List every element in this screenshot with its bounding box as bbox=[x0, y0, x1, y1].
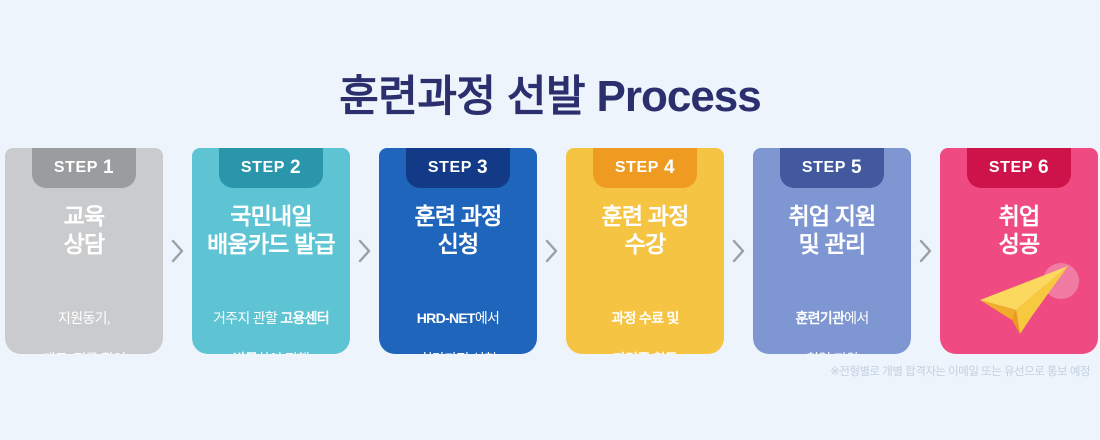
step-title-5: 취업 지원 및 관리 bbox=[788, 202, 875, 258]
step-badge-label-4: STEP bbox=[615, 159, 659, 177]
chevron-right-icon-1 bbox=[163, 148, 192, 354]
step-number-3: 3 bbox=[477, 157, 488, 179]
step-desc-3: HRD-NET에서 희망과정 신청 bbox=[411, 288, 505, 354]
step-desc-2-plain1: 거주지 관할 bbox=[213, 310, 280, 326]
step-desc-4-bold1: 과정 수료 및 bbox=[611, 310, 678, 326]
step-desc-line-5a: 훈련기관에서 bbox=[795, 308, 868, 328]
step-desc-line-3a: HRD-NET에서 bbox=[417, 308, 499, 328]
step-desc-5: 훈련기관에서 취업 지원 bbox=[789, 288, 874, 354]
step-desc-line-3b: 희망과정 신청 bbox=[417, 349, 499, 354]
step-desc-line-5b: 취업 지원 bbox=[795, 349, 868, 354]
step-desc-4: 과정 수료 및 자격증 취득 bbox=[605, 288, 684, 354]
chevron-right-icon-5 bbox=[911, 148, 940, 354]
step-desc-3-plain1: 에서 bbox=[475, 310, 499, 326]
step-badge-1: STEP1 bbox=[32, 148, 136, 188]
step-card-3[interactable]: STEP3 훈련 과정 신청 HRD-NET에서 희망과정 신청 bbox=[379, 148, 537, 354]
step-number-1: 1 bbox=[103, 157, 114, 179]
step-desc-2: 거주지 관할 고용센터 방문하여 진행 bbox=[207, 288, 335, 354]
step-title-2: 국민내일 배움카드 발급 bbox=[207, 202, 335, 258]
step-desc-2-bold2: 방문 bbox=[233, 351, 257, 354]
step-card-1[interactable]: STEP1 교육 상담 지원동기, 태도, 전공 확인 bbox=[5, 148, 163, 354]
step-badge-label-3: STEP bbox=[428, 159, 472, 177]
step-badge-label-2: STEP bbox=[241, 159, 285, 177]
step-badge-5: STEP5 bbox=[780, 148, 884, 188]
step-badge-4: STEP4 bbox=[593, 148, 697, 188]
step-number-2: 2 bbox=[290, 157, 301, 179]
process-steps-row: STEP1 교육 상담 지원동기, 태도, 전공 확인 STEP2 국민내일 배… bbox=[5, 148, 1097, 354]
chevron-right-icon-3 bbox=[537, 148, 566, 354]
step-desc-line-1a: 지원동기, bbox=[43, 308, 126, 328]
step-desc-5-plain1: 에서 bbox=[844, 310, 868, 326]
chevron-right-icon-2 bbox=[350, 148, 379, 354]
step-title-4: 훈련 과정 수강 bbox=[601, 202, 688, 258]
step-desc-2-bold1: 고용센터 bbox=[280, 310, 329, 326]
step-card-5[interactable]: STEP5 취업 지원 및 관리 훈련기관에서 취업 지원 bbox=[753, 148, 911, 354]
step-desc-line-2a: 거주지 관할 고용센터 bbox=[213, 308, 329, 328]
step-desc-line-1b: 태도, 전공 확인 bbox=[43, 349, 126, 354]
step-desc-4-bold2: 자격증 취득 bbox=[613, 351, 677, 354]
step-badge-3: STEP3 bbox=[406, 148, 510, 188]
step-badge-2: STEP2 bbox=[219, 148, 323, 188]
chevron-right-icon-4 bbox=[724, 148, 753, 354]
step-badge-6: STEP6 bbox=[967, 148, 1071, 188]
step-number-4: 4 bbox=[664, 157, 675, 179]
step-number-5: 5 bbox=[851, 157, 862, 179]
step-desc-line-4a: 과정 수료 및 bbox=[611, 308, 678, 328]
paper-plane-icon bbox=[976, 260, 1084, 338]
step-badge-label-5: STEP bbox=[802, 159, 846, 177]
step-desc-line-4b: 자격증 취득 bbox=[611, 349, 678, 354]
footnote-text: ※전형별로 개별 합격자는 이메일 또는 유선으로 통보 예정 bbox=[830, 363, 1090, 379]
step-title-3: 훈련 과정 신청 bbox=[414, 202, 501, 258]
step-card-4[interactable]: STEP4 훈련 과정 수강 과정 수료 및 자격증 취득 bbox=[566, 148, 724, 354]
page-title-english: Process bbox=[597, 72, 761, 121]
step-badge-label-1: STEP bbox=[54, 159, 98, 177]
step-number-6: 6 bbox=[1038, 157, 1049, 179]
step-desc-5-bold1: 훈련기관 bbox=[795, 310, 844, 326]
step-card-6[interactable]: STEP6 취업 성공 bbox=[940, 148, 1098, 354]
step-title-1: 교육 상담 bbox=[64, 202, 105, 258]
step-title-6: 취업 성공 bbox=[999, 202, 1040, 258]
step-desc-1: 지원동기, 태도, 전공 확인 bbox=[37, 288, 132, 354]
page-title: 훈련과정 선발 Process bbox=[0, 62, 1100, 124]
step-desc-2-plain2: 하여 진행 bbox=[257, 351, 309, 354]
page-title-korean: 훈련과정 선발 bbox=[339, 73, 596, 121]
step-desc-3-bold1: HRD-NET bbox=[417, 310, 475, 326]
step-badge-label-6: STEP bbox=[989, 159, 1033, 177]
step-desc-line-2b: 방문하여 진행 bbox=[213, 349, 329, 354]
step-card-2[interactable]: STEP2 국민내일 배움카드 발급 거주지 관할 고용센터 방문하여 진행 bbox=[192, 148, 350, 354]
